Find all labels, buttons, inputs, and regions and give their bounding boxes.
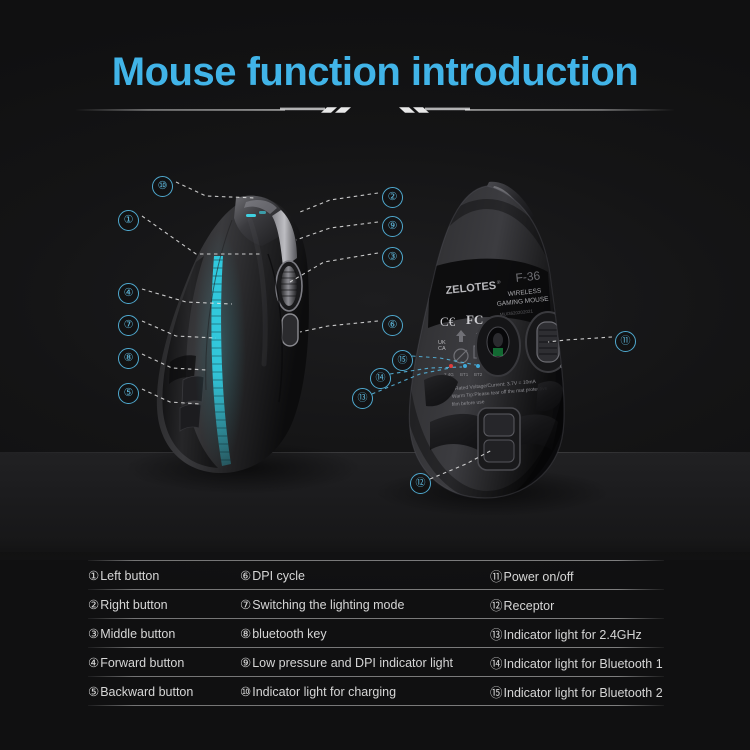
legend-cell-1: ②Right button: [88, 597, 240, 612]
legend-num: ⑤: [88, 685, 99, 699]
legend-text: bluetooth key: [252, 627, 326, 641]
callout-14: ⑭: [370, 368, 391, 389]
dpi-cycle-button: [282, 314, 298, 346]
legend-cell-3: ⑬Indicator light for 2.4GHz: [490, 624, 664, 643]
legend-text: Left button: [100, 569, 159, 583]
legend-num: ⑩: [240, 685, 251, 699]
legend-text: Forward button: [100, 656, 184, 670]
svg-text:BT2: BT2: [474, 372, 483, 377]
mouse-left-sideview: [157, 196, 309, 473]
receiver-dongle: [484, 414, 514, 436]
callout-12: ⑫: [410, 473, 431, 494]
legend-num: ⑫: [490, 599, 503, 613]
legend-num: ⑥: [240, 569, 251, 583]
legend-text: Backward button: [100, 685, 193, 699]
legend-text: Indicator light for Bluetooth 1: [504, 657, 663, 671]
callout-7: ⑦: [118, 315, 139, 336]
legend-row: ②Right button ⑦Switching the lighting mo…: [88, 590, 664, 618]
legend-num: ⑧: [240, 627, 251, 641]
legend-text: Indicator light for 2.4GHz: [504, 628, 642, 642]
legend-cell-1: ①Left button: [88, 568, 240, 583]
legend-rule-bottom: [88, 705, 664, 706]
callout-8: ⑧: [118, 348, 139, 369]
leader-10: [176, 182, 256, 198]
legend-text: Indicator light for charging: [252, 685, 396, 699]
legend-cell-2: ⑨Low pressure and DPI indicator light: [240, 655, 490, 670]
legend-num: ④: [88, 656, 99, 670]
charging-indicator-light: [246, 214, 256, 217]
indicator-led-bt2: [476, 364, 480, 368]
leader-2: [300, 193, 378, 212]
legend-text: Low pressure and DPI indicator light: [252, 656, 453, 670]
callout-10: ⑩: [152, 176, 173, 197]
callout-11: ⑪: [615, 331, 636, 352]
callout-3: ③: [382, 247, 403, 268]
mouse-right-underside: ZELOTES ® F-36 WIRELESS GAMING MOUSE MU/…: [403, 180, 580, 498]
legend-num: ⑮: [490, 686, 503, 700]
legend-cell-3: ⑭Indicator light for Bluetooth 1: [490, 653, 664, 672]
leader-6: [300, 321, 378, 332]
callout-2: ②: [382, 187, 403, 208]
legend-row: ③Middle button ⑧bluetooth key ⑬Indicator…: [88, 619, 664, 647]
legend-num: ②: [88, 598, 99, 612]
legend-text: Power on/off: [504, 570, 574, 584]
legend-num: ⑬: [490, 628, 503, 642]
infographic-page: Mouse function introduction: [0, 0, 750, 750]
callout-13: ⑬: [352, 388, 373, 409]
cert-mark-ce: C€: [440, 314, 456, 329]
legend-cell-2: ⑦Switching the lighting mode: [240, 597, 490, 612]
svg-text:BT1: BT1: [460, 372, 469, 377]
legend-cell-2: ⑩Indicator light for charging: [240, 684, 490, 699]
legend-cell-3: ⑮Indicator light for Bluetooth 2: [490, 682, 664, 701]
svg-text:off: off: [562, 316, 569, 322]
legend-row: ⑤Backward button ⑩Indicator light for ch…: [88, 677, 664, 705]
legend-num: ①: [88, 569, 99, 583]
legend-text: Middle button: [100, 627, 175, 641]
mice-illustration: ZELOTES ® F-36 WIRELESS GAMING MOUSE MU/…: [0, 150, 750, 550]
legend-text: Right button: [100, 598, 167, 612]
legend-text: Indicator light for Bluetooth 2: [504, 686, 663, 700]
legend-num: ⑪: [490, 570, 503, 584]
indicator-led-bt1: [463, 364, 467, 368]
legend-cell-2: ⑧bluetooth key: [240, 626, 490, 641]
legend-cell-3: ⑫Receptor: [490, 595, 664, 614]
callout-15: ⑮: [392, 350, 413, 371]
leader-9: [296, 222, 378, 240]
callout-4: ④: [118, 283, 139, 304]
callout-1: ①: [118, 210, 139, 231]
legend-num: ⑨: [240, 656, 251, 670]
callout-9: ⑨: [382, 216, 403, 237]
legend-cell-1: ⑤Backward button: [88, 684, 240, 699]
legend-cell-1: ③Middle button: [88, 626, 240, 641]
legend-cell-2: ⑥DPI cycle: [240, 568, 490, 583]
legend-text: DPI cycle: [252, 569, 305, 583]
legend-num: ⑭: [490, 657, 503, 671]
callout-5: ⑤: [118, 383, 139, 404]
legend-table: ①Left button ⑥DPI cycle ⑪Power on/off ②R…: [88, 560, 664, 706]
svg-text:CA: CA: [438, 346, 446, 352]
legend-text: Switching the lighting mode: [252, 598, 404, 612]
page-title: Mouse function introduction: [0, 50, 750, 95]
legend-num: ⑦: [240, 598, 251, 612]
legend-cell-3: ⑪Power on/off: [490, 566, 664, 585]
legend-cell-1: ④Forward button: [88, 655, 240, 670]
cert-mark-fc: FC: [466, 312, 483, 327]
legend-num: ③: [88, 627, 99, 641]
title-divider: [75, 104, 675, 116]
callout-6: ⑥: [382, 315, 403, 336]
indicator-led-24ghz: [449, 364, 453, 368]
legend-row: ①Left button ⑥DPI cycle ⑪Power on/off: [88, 561, 664, 589]
legend-row: ④Forward button ⑨Low pressure and DPI in…: [88, 648, 664, 676]
model-text: F-36: [515, 268, 541, 285]
legend-text: Receptor: [504, 599, 555, 613]
